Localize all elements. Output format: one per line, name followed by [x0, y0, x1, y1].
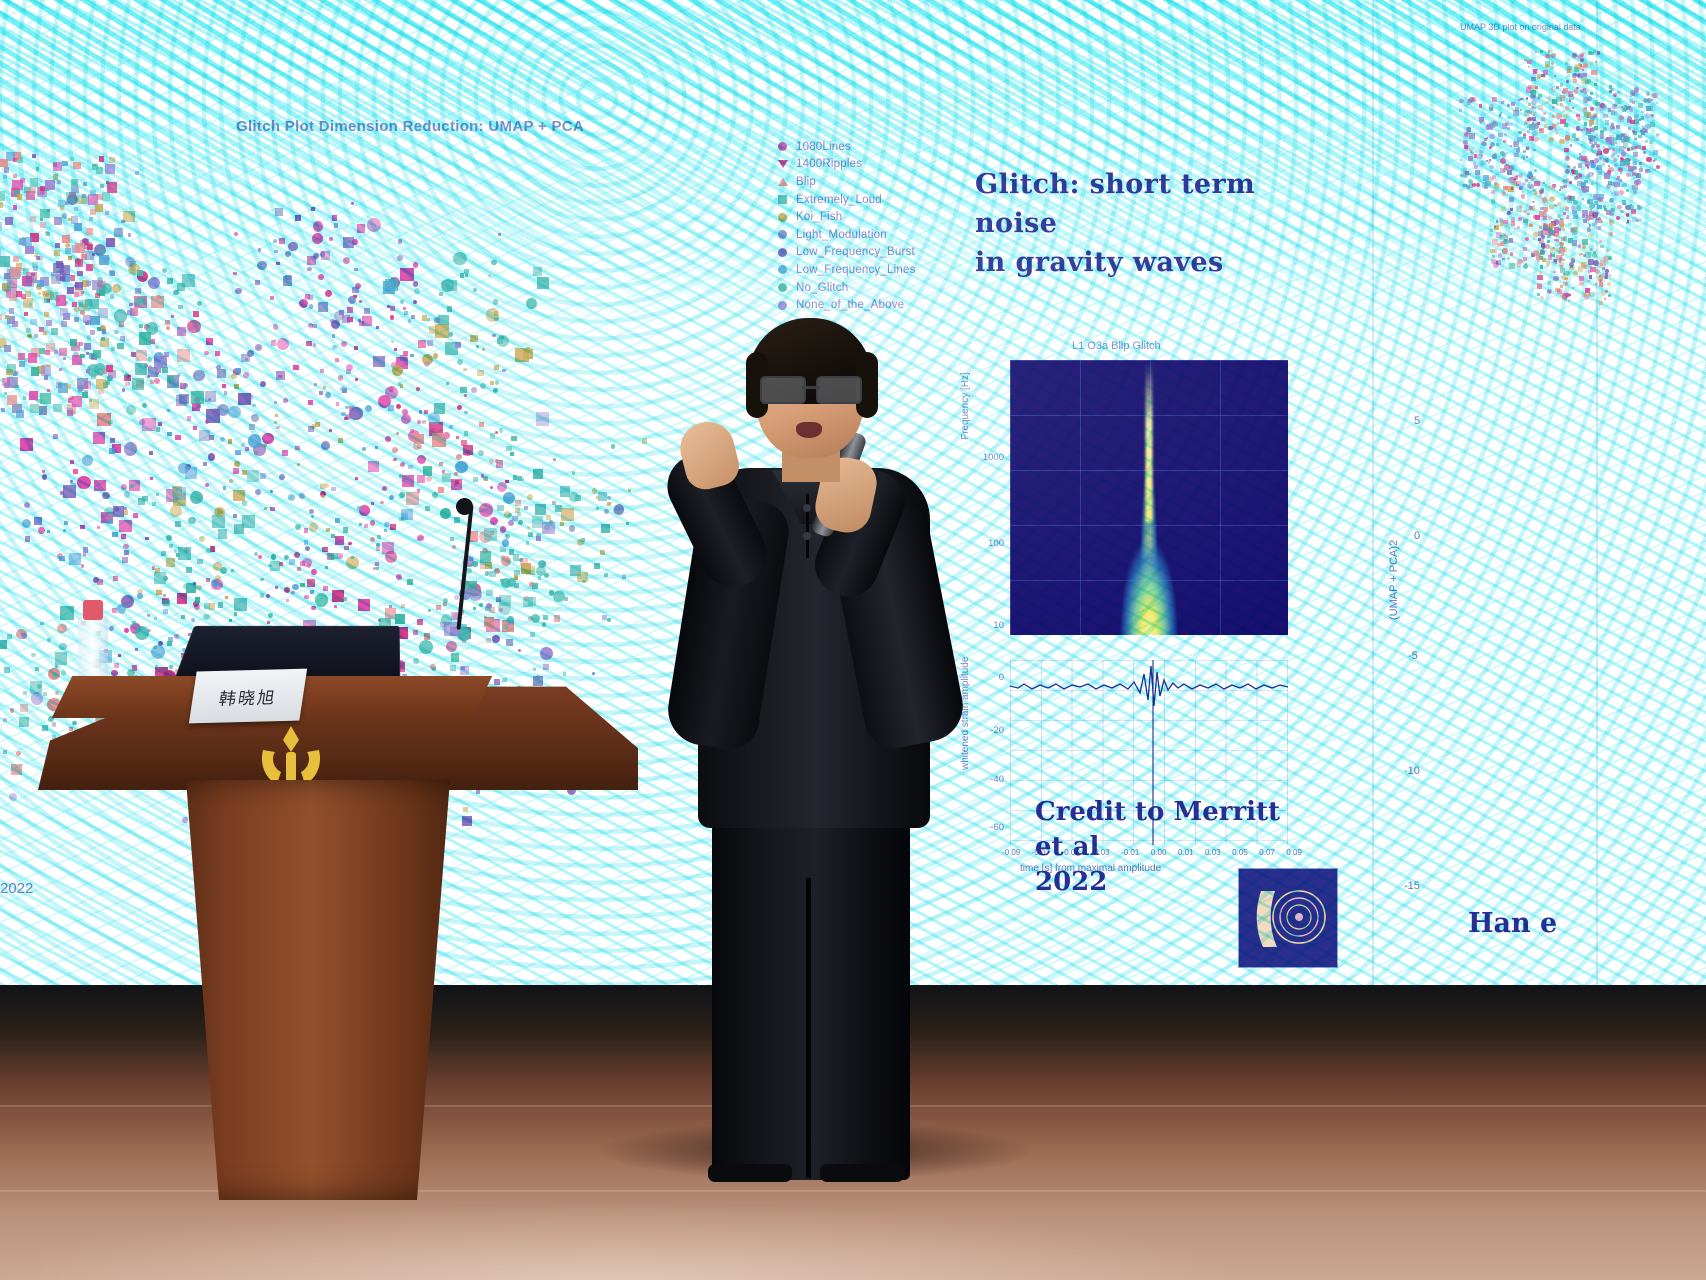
scatter-point — [523, 597, 533, 607]
scatter-point — [490, 433, 496, 439]
mini-scatter-point — [1634, 114, 1639, 119]
mini-scatter-point — [1521, 194, 1525, 198]
mini-scatter-point — [1545, 101, 1549, 105]
mini-scatter-point — [1540, 296, 1544, 300]
mini-scatter-point — [1523, 247, 1527, 251]
scatter-point — [30, 404, 39, 413]
scatter-point — [473, 477, 479, 483]
scatter-point — [480, 383, 486, 389]
scatter-point — [137, 593, 142, 598]
mini-scatter-point — [1599, 282, 1604, 287]
mini-scatter-point — [1614, 164, 1618, 168]
mini-scatter-point — [1620, 118, 1624, 122]
podium: 韩晓旭 — [38, 620, 638, 1180]
scatter-point — [533, 267, 542, 276]
scatter-point — [286, 599, 289, 602]
scatter-point — [307, 579, 314, 586]
scatter-point — [13, 205, 18, 210]
scatter-point — [206, 409, 220, 423]
mini-scatter-point — [1570, 144, 1573, 147]
scatter-point — [255, 344, 262, 351]
mini-scatter-point — [1573, 271, 1578, 276]
scatter-point — [471, 387, 477, 393]
mini-scatter-point — [1587, 166, 1590, 169]
scatter-point — [336, 402, 340, 406]
mini-scatter-point — [1588, 280, 1590, 282]
scatter-point — [456, 454, 462, 460]
scatter-point — [376, 543, 380, 547]
scatter-point — [351, 556, 354, 559]
scatter-point — [308, 426, 314, 432]
scatter-point — [343, 527, 349, 533]
mini-scatter-point — [1582, 239, 1588, 245]
scatter-point — [323, 386, 327, 390]
scatter-point — [518, 520, 523, 525]
scatter-point — [524, 506, 529, 511]
legend-label-7: Low_Frequency_Lines — [796, 264, 916, 276]
scatter-point — [368, 461, 379, 472]
scatter-point — [89, 399, 99, 409]
mini-scatter-point — [1592, 253, 1597, 258]
scatter-point — [499, 428, 504, 433]
scatter-point — [513, 554, 519, 560]
scatter-point — [59, 348, 67, 356]
scatter-point — [80, 525, 85, 530]
mini-scatter-point — [1641, 128, 1646, 133]
scatter-point — [34, 334, 38, 338]
mini-scatter-point — [1559, 262, 1564, 267]
mini-scatter-point — [1529, 172, 1533, 176]
scatter-point — [429, 326, 438, 335]
scatter-point — [235, 450, 241, 456]
scatter-point — [167, 278, 173, 284]
scatter-point — [47, 389, 50, 392]
scatter-point — [165, 320, 170, 325]
mini-scatter-point — [1538, 238, 1541, 241]
legend-label-0: 1080Lines — [796, 141, 851, 153]
scatter-point — [396, 432, 399, 435]
scatter-point — [521, 478, 524, 481]
right-mini-scatter-cloud — [1410, 40, 1700, 340]
mini-scatter-point — [1534, 181, 1540, 187]
mini-scatter-point — [1489, 165, 1493, 169]
scatter-point — [408, 319, 411, 322]
mini-scatter-point — [1542, 258, 1546, 262]
mini-scatter-point — [1584, 91, 1586, 93]
scatter-point — [506, 446, 512, 452]
mini-scatter-point — [1562, 228, 1565, 231]
scatter-point — [299, 493, 305, 499]
scatter-point — [176, 553, 180, 557]
scatter-point — [309, 522, 319, 532]
scatter-point — [247, 470, 259, 482]
scatter-point — [456, 436, 459, 439]
mini-scatter-point — [1535, 51, 1538, 54]
scatter-point — [271, 340, 276, 345]
scatter-point — [24, 276, 34, 286]
scatter-point — [29, 303, 33, 307]
mini-scatter-point — [1502, 123, 1507, 128]
scatter-point — [135, 288, 142, 295]
mini-scatter-point — [1527, 130, 1530, 133]
mini-scatter-point — [1598, 226, 1602, 230]
mini-scatter-point — [1563, 236, 1567, 240]
scatter-point — [13, 256, 19, 262]
scatter-point — [473, 288, 477, 292]
mini-scatter-point — [1652, 93, 1657, 98]
mini-scatter-point — [1628, 127, 1632, 131]
scatter-point — [3, 175, 7, 179]
mini-scatter-point — [1491, 190, 1495, 194]
scatter-point — [425, 506, 430, 511]
scatter-point — [142, 403, 147, 408]
scatter-point — [25, 536, 31, 542]
scatter-point — [7, 634, 12, 639]
scatter-point — [432, 433, 446, 447]
mini-scatter-point — [1505, 186, 1507, 188]
mini-scatter-point — [1646, 91, 1650, 95]
scatter-point — [20, 438, 33, 451]
mini-scatter-point — [1591, 182, 1594, 185]
scatter-point — [397, 255, 403, 261]
scatter-point — [208, 453, 216, 461]
scatter-point — [60, 206, 64, 210]
mini-scatter-point — [1609, 220, 1614, 225]
mini-scatter-point — [1656, 133, 1660, 137]
scatter-point — [341, 341, 347, 347]
mini-scatter-point — [1564, 148, 1568, 152]
mini-scatter-point — [1545, 229, 1551, 235]
scatter-point — [218, 529, 228, 539]
scatter-point — [294, 552, 300, 558]
mini-scatter-point — [1540, 265, 1543, 268]
mini-scatter-point — [1527, 184, 1531, 188]
scatter-point — [86, 228, 93, 235]
scatter-point — [3, 718, 7, 722]
scatter-point — [92, 253, 96, 257]
scatter-point — [23, 691, 28, 696]
mini-scatter-point — [1490, 233, 1493, 236]
scatter-point — [43, 331, 47, 335]
scatter-point — [53, 434, 58, 439]
scatter-point — [167, 432, 172, 437]
mini-scatter-point — [1589, 124, 1592, 127]
scatter-point — [323, 586, 329, 592]
scatter-point — [242, 501, 247, 506]
scatter-point — [354, 268, 358, 272]
scatter-point — [432, 492, 438, 498]
mini-scatter-point — [1539, 253, 1542, 256]
mini-scatter-point — [1635, 122, 1640, 127]
scatter-point — [178, 547, 191, 560]
mini-scatter-point — [1593, 100, 1598, 105]
mini-scatter-point — [1572, 133, 1577, 138]
scatter-point — [147, 357, 152, 362]
mini-scatter-point — [1510, 145, 1512, 147]
scatter-point — [359, 300, 362, 303]
scatter-point — [251, 414, 259, 422]
legend-item-3: Extremely_Loud — [778, 191, 968, 209]
scatter-point — [22, 237, 31, 246]
scatter-point — [282, 450, 288, 456]
mini-scatter-point — [1586, 217, 1589, 220]
scatter-point — [31, 367, 40, 376]
mini-scatter-point — [1527, 118, 1530, 121]
scatter-point — [15, 385, 18, 388]
scatter-point — [25, 291, 31, 297]
mini-scatter-point — [1559, 257, 1563, 261]
mini-scatter-point — [1638, 206, 1642, 210]
scatter-point — [40, 393, 50, 403]
scatter-point — [0, 202, 3, 209]
mini-scatter-point — [1621, 151, 1627, 157]
mini-scatter-point — [1633, 161, 1637, 165]
mini-scatter-point — [1537, 97, 1541, 101]
scatter-point — [93, 350, 101, 358]
scatter-point — [190, 491, 204, 505]
scatter-point — [596, 496, 599, 499]
scatter-point — [292, 584, 298, 590]
mini-scatter-point — [1490, 142, 1495, 147]
mini-scatter-point — [1498, 133, 1503, 138]
scatter-point — [270, 296, 274, 300]
scatter-point — [154, 378, 160, 384]
institution-logo — [1238, 868, 1338, 968]
mini-scatter-point — [1565, 156, 1571, 162]
mini-scatter-point — [1612, 104, 1617, 109]
scatter-point — [442, 473, 452, 483]
mini-scatter-point — [1550, 248, 1554, 252]
mini-scatter-point — [1565, 293, 1570, 298]
scatter-point — [312, 233, 324, 245]
mini-scatter-point — [1541, 74, 1545, 78]
scatter-point — [222, 384, 226, 388]
scatter-point — [505, 534, 508, 537]
podium-body — [153, 780, 483, 1200]
scatter-point — [96, 379, 106, 389]
scatter-point — [73, 341, 77, 345]
speaker-legs — [712, 814, 910, 1180]
mini-scatter-point — [1583, 63, 1589, 69]
scatter-point — [404, 311, 408, 315]
scatter-point — [307, 564, 311, 568]
scatter-point — [320, 369, 323, 372]
legend-label-6: Low_Frequency_Burst — [796, 246, 915, 258]
scatter-point — [171, 315, 174, 318]
mini-scatter-point — [1539, 226, 1542, 229]
scatter-point — [145, 537, 149, 541]
scatter-point — [139, 332, 152, 345]
scatter-point — [311, 569, 317, 575]
scatter-point — [90, 330, 95, 335]
scatter-point — [331, 534, 335, 538]
scatter-point — [209, 603, 215, 609]
mini-scatter-point — [1645, 140, 1648, 143]
chart-legend: 1080Lines1400RipplesBlipExtremely_LoudKo… — [778, 138, 968, 314]
scatter-point — [394, 348, 397, 351]
scatter-point — [284, 587, 290, 593]
mini-scatter-point — [1549, 291, 1551, 293]
scatter-point — [365, 405, 372, 412]
bottle-cap[interactable] — [83, 600, 103, 620]
scatter-point — [61, 321, 68, 328]
scatter-point — [310, 590, 314, 594]
mini-scatter-point — [1604, 173, 1610, 179]
scatter-point — [55, 243, 60, 248]
mini-scatter-point — [1596, 167, 1599, 170]
mini-scatter-point — [1550, 66, 1554, 70]
mini-scatter-point — [1568, 238, 1573, 243]
scatter-point — [98, 308, 108, 318]
mini-scatter-point — [1532, 189, 1536, 193]
scatter-point — [600, 550, 605, 555]
mini-scatter-point — [1617, 205, 1622, 210]
scatter-point — [465, 274, 468, 277]
mini-scatter-point — [1563, 88, 1568, 93]
scatter-point — [80, 354, 84, 358]
scatter-point — [16, 751, 21, 756]
scatter-point — [84, 242, 92, 250]
scatter-point — [63, 529, 66, 532]
scatter-point — [401, 604, 405, 608]
scatter-point — [592, 488, 598, 494]
mini-scatter-point — [1560, 268, 1566, 274]
mini-scatter-point — [1509, 177, 1515, 183]
scatter-point — [402, 475, 415, 488]
mini-scatter-point — [1552, 106, 1555, 109]
scatter-point — [483, 476, 487, 480]
mini-scatter-point — [1572, 260, 1575, 263]
scatter-point — [30, 178, 38, 186]
scatter-point — [400, 300, 404, 304]
mini-scatter-point — [1600, 245, 1604, 249]
scatter-point — [407, 579, 413, 585]
eyeglass-lens-right — [816, 376, 862, 404]
scatter-point — [13, 174, 17, 178]
mini-scatter-point — [1464, 145, 1468, 149]
scatter-point — [283, 398, 287, 402]
mini-scatter-point — [1538, 105, 1543, 110]
scatter-point — [149, 451, 153, 455]
mini-scatter-point — [1605, 120, 1610, 125]
mini-scatter-point — [1556, 122, 1560, 126]
scatter-point — [325, 290, 332, 297]
legend-label-5: Light_Modulation — [796, 229, 887, 241]
scatter-point — [125, 373, 129, 377]
mini-scatter-point — [1633, 190, 1638, 195]
mini-scatter-point — [1616, 125, 1620, 129]
scatter-point — [527, 494, 533, 500]
mini-scatter-point — [1576, 138, 1579, 141]
scatter-point — [233, 272, 237, 276]
scatter-point — [229, 479, 233, 483]
scatter-point — [107, 519, 113, 525]
mini-scatter-point — [1533, 112, 1537, 116]
mini-scatter-point — [1529, 136, 1534, 141]
scatter-point — [489, 571, 495, 577]
scatter-point — [596, 507, 599, 510]
mini-scatter-point — [1519, 205, 1523, 209]
scatter-point — [150, 477, 153, 480]
mini-scatter-point — [1557, 214, 1561, 218]
scatter-point — [470, 335, 477, 342]
scatter-point — [318, 302, 328, 312]
mini-scatter-point — [1522, 191, 1524, 193]
scatter-point — [271, 554, 277, 560]
scatter-point — [206, 338, 213, 345]
scatter-point — [85, 299, 91, 305]
mini-scatter-point — [1533, 149, 1536, 152]
mini-scatter-point — [1566, 136, 1570, 140]
scatter-point — [50, 292, 59, 301]
scatter-point — [24, 502, 30, 508]
scatter-point — [414, 434, 425, 445]
scatter-point — [223, 486, 227, 490]
mini-scatter-point — [1500, 112, 1502, 114]
scatter-point — [72, 396, 82, 406]
mini-scatter-point — [1626, 173, 1630, 177]
scatter-point — [454, 472, 458, 476]
scatter-point — [122, 557, 128, 563]
mini-scatter-point — [1604, 298, 1606, 300]
mini-scatter-point — [1581, 78, 1587, 84]
mini-scatter-point — [1643, 151, 1646, 154]
scatter-point — [314, 383, 317, 386]
mini-scatter-point — [1484, 138, 1487, 141]
mini-scatter-point — [1572, 210, 1577, 215]
mini-scatter-point — [1562, 218, 1565, 221]
scatter-point — [285, 275, 291, 281]
scatter-point — [304, 595, 309, 600]
scatter-point — [185, 467, 197, 479]
left-edge-year: 2022 — [0, 880, 33, 897]
mini-scatter-point — [1521, 182, 1526, 187]
scatter-point — [0, 256, 10, 267]
scatter-point — [338, 438, 343, 443]
mini-scatter-point — [1582, 214, 1585, 217]
scatter-point — [67, 287, 74, 294]
scatter-point — [170, 505, 182, 517]
scatter-point — [480, 551, 491, 562]
scatter-point — [454, 517, 460, 523]
mini-scatter-point — [1626, 213, 1630, 217]
scatter-point — [325, 392, 331, 398]
scatter-point — [370, 520, 376, 526]
scatter-point — [105, 164, 115, 174]
scatter-point — [234, 524, 245, 535]
mini-scatter-point — [1614, 112, 1618, 116]
legend-item-0: 1080Lines — [778, 138, 968, 156]
mini-scatter-point — [1649, 140, 1654, 145]
scatter-point — [101, 337, 105, 341]
credit-line-1: Credit to Merritt et al — [1035, 795, 1305, 865]
scatter-point — [109, 448, 115, 454]
scatter-point — [114, 330, 119, 335]
scatter-point — [102, 329, 107, 334]
scatter-point — [383, 281, 396, 294]
spectrogram-image — [1010, 360, 1288, 635]
scatter-point — [187, 416, 191, 420]
scatter-point — [311, 207, 315, 211]
scatter-point — [257, 261, 267, 271]
mini-scatter-point — [1578, 163, 1582, 167]
scatter-point — [45, 350, 51, 356]
scatter-point — [561, 508, 574, 521]
scatter-point — [139, 324, 143, 328]
mini-scatter-point — [1594, 83, 1598, 87]
mini-scatter-point — [1507, 127, 1510, 130]
scatter-point — [417, 475, 425, 483]
